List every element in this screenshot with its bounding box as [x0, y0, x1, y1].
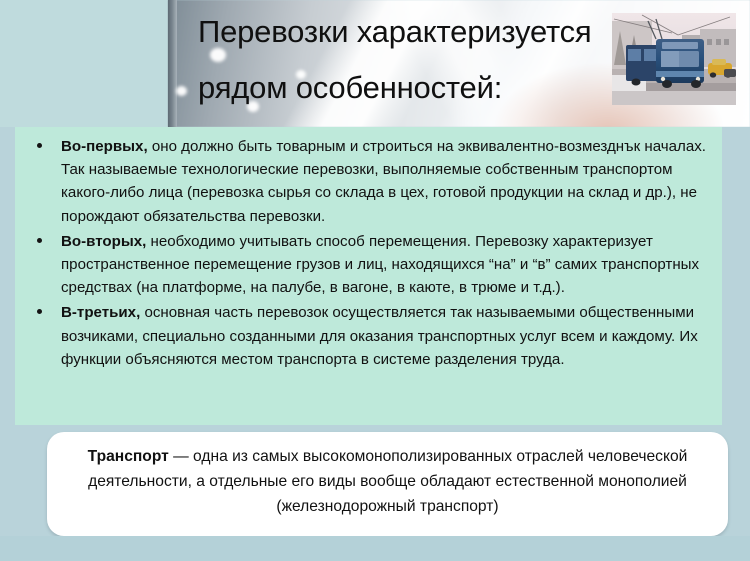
- list-item-text: Во-первых, оно должно быть товарным и ст…: [61, 135, 706, 228]
- list-item: Во-первых, оно должно быть товарным и ст…: [15, 135, 722, 228]
- bullet-list: Во-первых, оно должно быть товарным и ст…: [15, 135, 722, 373]
- header-left-color-block: [0, 0, 168, 127]
- trolleybus-photo: [612, 13, 736, 105]
- bullet-dot-icon: [37, 309, 42, 314]
- list-item-lead: Во-первых,: [61, 138, 148, 155]
- definition-term: Транспорт: [88, 448, 169, 465]
- bullet-dot-icon: [37, 143, 42, 148]
- slide: Перевозки характеризуется рядом особенно…: [0, 0, 750, 561]
- list-item: Во-вторых, необходимо учитывать способ п…: [15, 230, 722, 300]
- slide-header: Перевозки характеризуется рядом особенно…: [0, 0, 750, 127]
- list-item-text: Во-вторых, необходимо учитывать способ п…: [61, 230, 706, 300]
- definition-body: — одна из самых высокомонополизированных…: [88, 448, 687, 515]
- bottom-strip: [0, 536, 750, 561]
- list-item-body: оно должно быть товарным и строиться на …: [61, 138, 706, 225]
- list-item-lead: В-третьих,: [61, 304, 140, 321]
- list-item: В-третьих, основная часть перевозок осущ…: [15, 301, 722, 371]
- definition-callout: Транспорт — одна из самых высокомонополи…: [47, 432, 728, 536]
- list-item-lead: Во-вторых,: [61, 233, 146, 250]
- trolleybus-photo-image: [612, 13, 736, 105]
- list-item-body: необходимо учитывать способ перемещения.…: [61, 233, 699, 296]
- page-title: Перевозки характеризуется рядом особенно…: [198, 4, 668, 116]
- header-photo-left-edge: [168, 0, 177, 127]
- list-item-text: В-третьих, основная часть перевозок осущ…: [61, 301, 706, 371]
- content-panel: Во-первых, оно должно быть товарным и ст…: [15, 127, 722, 425]
- bullet-dot-icon: [37, 238, 42, 243]
- list-item-body: основная часть перевозок осуществляется …: [61, 304, 698, 367]
- photo-highlight-speck: [176, 86, 187, 96]
- definition-callout-text: Транспорт — одна из самых высокомонополи…: [47, 432, 728, 519]
